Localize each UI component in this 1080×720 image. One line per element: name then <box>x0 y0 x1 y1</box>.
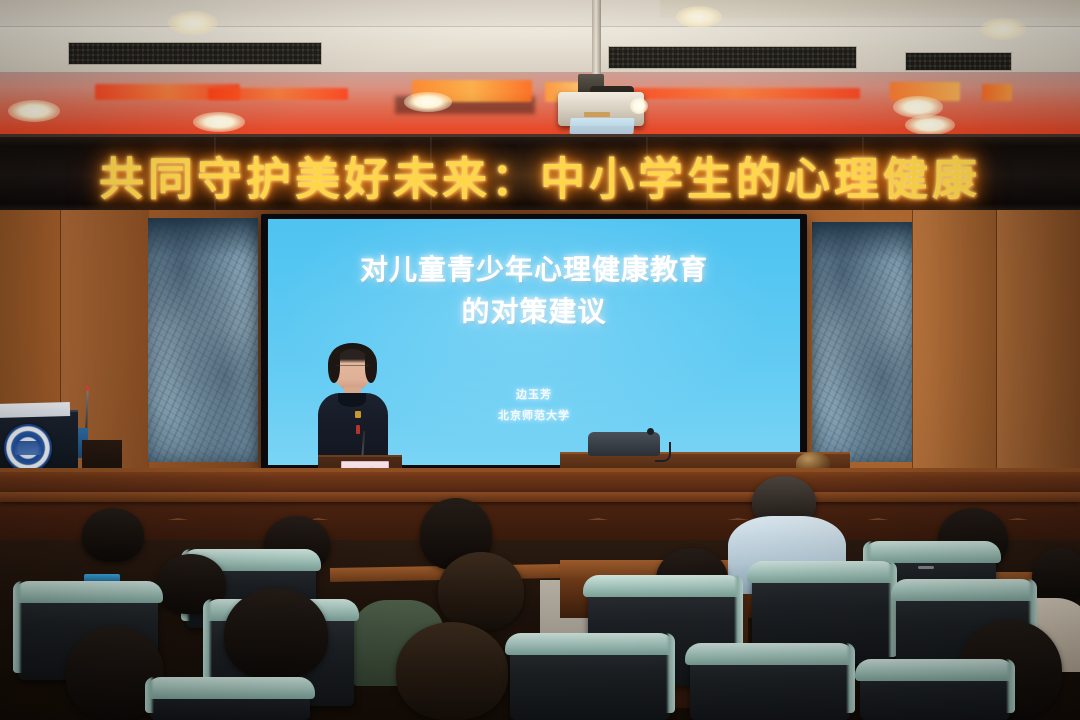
wall-sign-text <box>208 88 348 100</box>
lecture-hall-photo: 共同守护美好未来：中小学生的心理健康 对儿童青少年心理健康教育 的对策建议 边玉… <box>0 0 1080 720</box>
acoustic-panel <box>148 218 258 462</box>
recessed-spotlight-icon <box>404 92 452 112</box>
audience-head <box>82 508 144 562</box>
slide-title-line-1: 对儿童青少年心理健康教育 <box>268 249 800 291</box>
recessed-spotlight-icon <box>168 11 218 35</box>
presenter-lanyard <box>356 425 360 434</box>
audience-head <box>224 588 328 680</box>
presentation-laptop <box>588 432 660 456</box>
wall-sign-text <box>982 84 1012 101</box>
air-vent-icon <box>905 52 1012 71</box>
acoustic-panel <box>812 222 912 462</box>
slide-title-line-2: 的对策建议 <box>268 291 800 333</box>
air-vent-icon <box>68 42 322 65</box>
slide-title: 对儿童青少年心理健康教育 的对策建议 <box>268 249 800 333</box>
projector-mount-pole <box>592 0 601 74</box>
wall-panel-seam <box>996 210 1080 470</box>
stage-front-panel <box>0 468 1080 550</box>
recessed-spotlight-icon <box>980 18 1026 40</box>
audience-seat <box>510 640 670 720</box>
led-banner: 共同守护美好未来：中小学生的心理健康 <box>0 134 1080 216</box>
microphone-indicator-light <box>85 386 90 391</box>
wall-sign-text <box>610 88 860 99</box>
audience-head <box>1032 548 1080 604</box>
recessed-spotlight-icon <box>193 112 245 132</box>
recessed-spotlight-icon <box>8 100 60 122</box>
laptop-cable <box>655 442 671 462</box>
lectern-paper <box>0 402 70 418</box>
audience-seat <box>860 666 1010 720</box>
ceiling-soffit-secondary <box>660 0 1080 18</box>
presenter <box>306 343 402 473</box>
wall-panel-seam <box>912 210 997 470</box>
event-banner-title: 共同守护美好未来：中小学生的心理健康 <box>0 143 1080 208</box>
audience-seat <box>150 684 310 720</box>
presenter-badge-icon <box>355 411 361 418</box>
school-emblem-icon <box>4 424 52 472</box>
audience-head <box>396 622 508 720</box>
stage-edge-rail <box>0 492 1080 502</box>
audience-head <box>438 552 524 630</box>
projector-lens <box>569 118 634 134</box>
air-vent-icon <box>608 46 857 69</box>
presenter-glasses-icon <box>336 365 369 373</box>
presenter-collar <box>338 393 366 407</box>
eyeglasses-icon <box>918 566 934 569</box>
recessed-spotlight-icon <box>676 6 722 28</box>
recessed-spotlight-icon <box>905 115 955 135</box>
audience-seat <box>690 650 850 720</box>
